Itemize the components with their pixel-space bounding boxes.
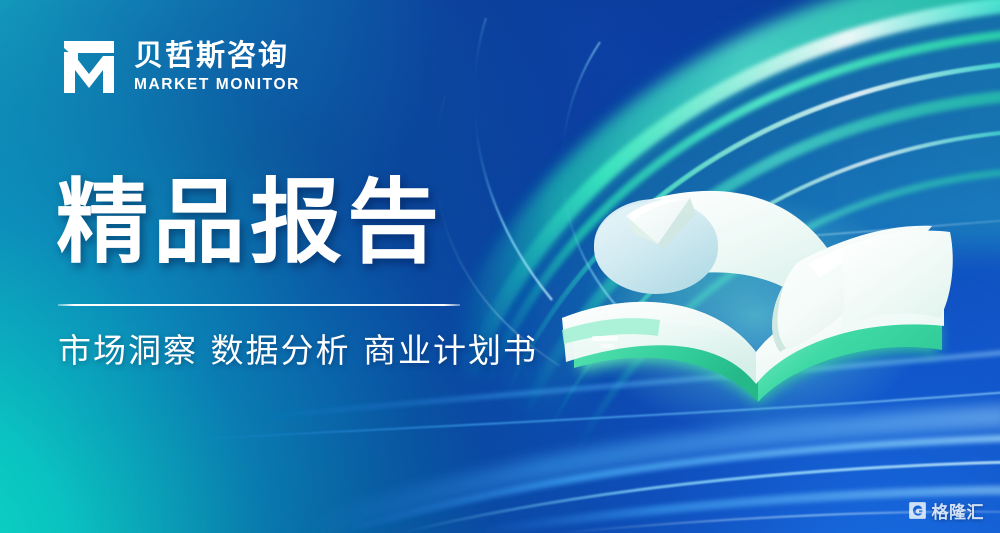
- brand-logo-text: 贝哲斯咨询 MARKET MONITOR: [134, 40, 300, 95]
- page-subtitle: 市场洞察 数据分析 商业计划书: [58, 330, 538, 371]
- brand-name-cn: 贝哲斯咨询: [134, 40, 300, 71]
- title-divider: [58, 304, 460, 306]
- brand-name-en: MARKET MONITOR: [134, 75, 300, 94]
- page-title: 精品报告: [56, 176, 444, 270]
- open-book-with-pie-chart-3d-illustration: [540, 140, 960, 440]
- watermark: 格隆汇: [908, 498, 985, 523]
- gelonghui-g-logo-icon: [908, 501, 927, 520]
- promotional-report-banner: 贝哲斯咨询 MARKET MONITOR 精品报告 市场洞察 数据分析 商业计划…: [0, 0, 1000, 533]
- market-monitor-m-logo-icon: [58, 36, 120, 98]
- brand-logo-lockup: 贝哲斯咨询 MARKET MONITOR: [58, 36, 300, 98]
- watermark-text: 格隆汇: [932, 498, 985, 523]
